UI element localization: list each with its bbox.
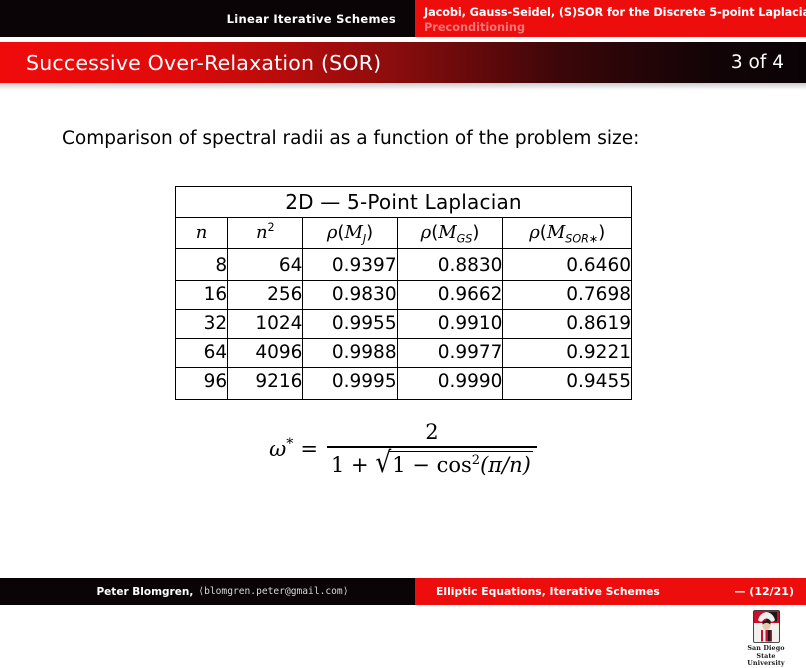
table-cell-n: 64 [176,339,228,368]
square-root: √ 1 − cos2(π/n) [375,451,533,477]
footer-course-block: Elliptic Equations, Iterative Schemes — … [415,578,806,605]
table-header-row: n n2 ρ(MJ) ρ(MGS) ρ(MSOR∗) [176,218,632,249]
table-row: 6440960.99880.99770.9221 [176,339,632,368]
logo-line-1: San Diego State [737,645,795,660]
spectral-radii-table: 2D — 5-Point Laplacian n n2 ρ(MJ) ρ(MGS) [175,186,632,400]
aztec-shield-icon [753,610,780,643]
denominator-prefix: 1 + [331,453,369,477]
table-cell-n2: 64 [228,249,303,281]
lead-paragraph: Comparison of spectral radii as a functi… [62,128,639,149]
formula-fraction: 2 1 + √ 1 − cos2(π/n) [327,420,537,477]
slide-header: Linear Iterative Schemes Jacobi, Gauss-S… [0,0,806,37]
formula-lhs: ω* [269,437,293,461]
table-cell-mgs: 0.9910 [397,310,503,339]
table-row: 3210240.99550.99100.8619 [176,310,632,339]
table-caption: 2D — 5-Point Laplacian [176,187,632,218]
table-cell-mj: 0.9955 [303,310,397,339]
table-cell-n: 96 [176,368,228,400]
cos-function: cos [437,453,472,477]
header-subsection-subtitle: Preconditioning [424,20,806,35]
table-cell-mgs: 0.8830 [397,249,503,281]
frame-counter: 3 of 4 [731,52,784,73]
radicand: 1 − cos2(π/n) [389,451,533,477]
table-cell-msor: 0.9221 [503,339,632,368]
slide-content: Comparison of spectral radii as a functi… [0,95,806,570]
table-body: 8640.93970.88300.6460162560.98300.96620.… [176,249,632,400]
table-cell-mj: 0.9995 [303,368,397,400]
column-header-rho-mj: ρ(MJ) [303,218,397,249]
formula-denominator: 1 + √ 1 − cos2(π/n) [327,448,537,477]
page-title: Successive Over-Relaxation (SOR) [26,51,381,75]
footer-author-block: Peter Blomgren, ⟨blomgren.peter@gmail.co… [0,578,415,605]
table-cell-n: 32 [176,310,228,339]
header-subsection-title: Jacobi, Gauss-Seidel, (S)SOR for the Dis… [424,6,806,20]
radical-sign: √ [375,448,391,478]
logo-line-2: University [737,660,795,668]
column-header-n: n [176,218,228,249]
slide-footer: Peter Blomgren, ⟨blomgren.peter@gmail.co… [0,578,806,605]
formula-numerator: 2 [415,420,448,446]
footer-author-email: ⟨blomgren.peter@gmail.com⟩ [198,586,348,597]
table-cell-mj: 0.9830 [303,281,397,310]
table-cell-msor: 0.7698 [503,281,632,310]
table-cell-mgs: 0.9662 [397,281,503,310]
table-cell-mgs: 0.9977 [397,339,503,368]
spectral-radii-table-wrapper: 2D — 5-Point Laplacian n n2 ρ(MJ) ρ(MGS) [175,186,632,400]
table-row: 8640.93970.88300.6460 [176,249,632,281]
table-caption-row: 2D — 5-Point Laplacian [176,187,632,218]
table-cell-n: 16 [176,281,228,310]
cos-argument: (π/n) [480,453,531,477]
column-header-rho-msor: ρ(MSOR∗) [503,218,632,249]
header-subsection: Jacobi, Gauss-Seidel, (S)SOR for the Dis… [415,0,806,37]
table-cell-mj: 0.9988 [303,339,397,368]
footer-author-name: Peter Blomgren, [96,586,193,598]
sdsu-logo: San Diego State University [737,610,795,668]
cos-exponent: 2 [472,453,480,468]
footer-course-title: Elliptic Equations, Iterative Schemes [436,585,660,598]
omega-star-formula: ω* = 2 1 + √ 1 − cos2(π/n) [0,420,806,477]
table-cell-n2: 9216 [228,368,303,400]
table-cell-n2: 4096 [228,339,303,368]
table-cell-mgs: 0.9990 [397,368,503,400]
table-row: 9692160.99950.99900.9455 [176,368,632,400]
table-cell-n2: 256 [228,281,303,310]
radicand-lead: 1 − [392,453,430,477]
footer-page-number: — (12/21) [734,585,794,598]
table-cell-msor: 0.9455 [503,368,632,400]
frame-title-bar: Successive Over-Relaxation (SOR) 3 of 4 [0,42,806,83]
formula-equals: = [300,437,318,461]
logo-wordmark: San Diego State University [737,645,795,668]
column-header-rho-mgs: ρ(MGS) [397,218,503,249]
table-cell-n2: 1024 [228,310,303,339]
header-section-label: Linear Iterative Schemes [0,0,415,37]
column-header-n-squared: n2 [228,218,303,249]
table-cell-mj: 0.9397 [303,249,397,281]
header-section-text: Linear Iterative Schemes [227,12,396,26]
table-cell-n: 8 [176,249,228,281]
table-cell-msor: 0.8619 [503,310,632,339]
table-cell-msor: 0.6460 [503,249,632,281]
table-row: 162560.98300.96620.7698 [176,281,632,310]
